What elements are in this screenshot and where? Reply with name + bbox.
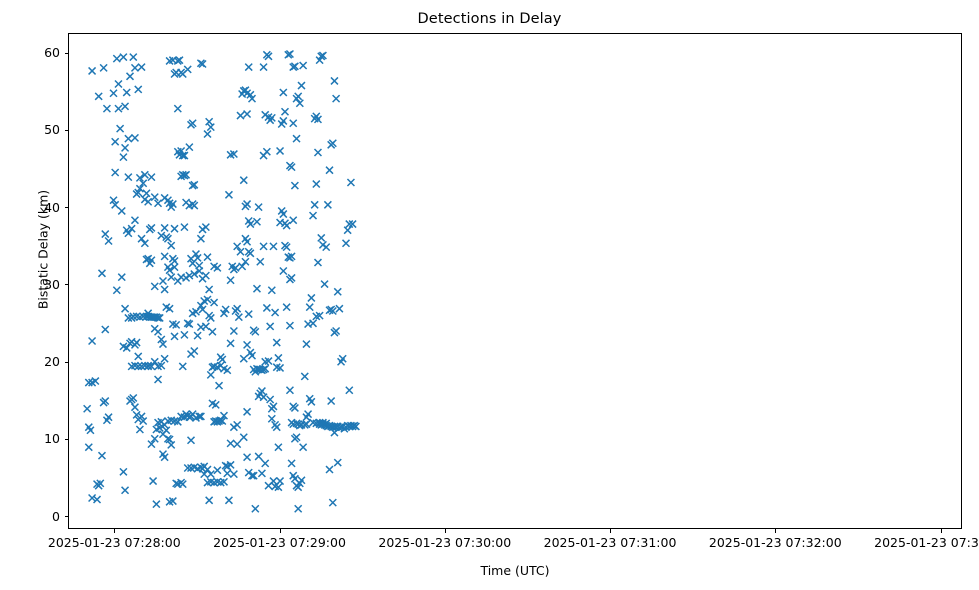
- data-point: [202, 323, 209, 330]
- data-point: [207, 124, 214, 131]
- x-axis-tick-mark: [114, 529, 115, 533]
- data-point-group: [84, 51, 360, 513]
- data-point: [135, 353, 142, 360]
- data-point: [113, 287, 120, 294]
- data-point: [313, 181, 320, 188]
- data-point: [161, 253, 168, 260]
- y-axis-label: Bistatic Delay (km): [36, 2, 51, 498]
- data-point: [85, 444, 92, 451]
- data-point: [286, 387, 293, 394]
- data-point: [138, 235, 145, 242]
- page-title: Detections in Delay: [0, 10, 979, 28]
- data-point: [240, 177, 247, 184]
- data-point: [295, 505, 302, 512]
- data-point: [260, 64, 267, 71]
- plot-axes[interactable]: [68, 33, 962, 529]
- data-point: [318, 234, 325, 241]
- data-point: [168, 274, 175, 281]
- data-point: [161, 355, 168, 362]
- data-point: [220, 412, 227, 419]
- data-point: [225, 191, 232, 198]
- data-point: [230, 328, 237, 335]
- data-point: [159, 278, 166, 285]
- data-point: [110, 90, 117, 97]
- data-point: [122, 487, 129, 494]
- data-point: [321, 281, 328, 288]
- data-point: [141, 240, 148, 247]
- data-point: [314, 149, 321, 156]
- data-point: [273, 339, 280, 346]
- data-point: [151, 194, 158, 201]
- data-point: [130, 54, 137, 61]
- data-point: [151, 283, 158, 290]
- x-axis-tick-mark: [280, 529, 281, 533]
- data-point: [288, 460, 295, 467]
- x-axis-tick-label: 2025-01-23 07:33:00: [874, 535, 979, 550]
- data-point: [181, 331, 188, 338]
- x-axis-tick-label: 2025-01-23 07:31:00: [544, 535, 677, 550]
- data-point: [334, 288, 341, 295]
- data-point: [181, 224, 188, 231]
- data-point: [127, 73, 134, 80]
- data-point: [290, 217, 297, 224]
- data-point: [291, 182, 298, 189]
- data-point: [311, 201, 318, 208]
- data-point: [227, 440, 234, 447]
- data-point: [296, 100, 303, 107]
- data-point: [225, 497, 232, 504]
- x-axis-tick-mark: [610, 529, 611, 533]
- data-point: [343, 240, 350, 247]
- data-point: [331, 77, 338, 84]
- data-point: [300, 444, 307, 451]
- data-point: [262, 460, 269, 467]
- data-point: [310, 212, 317, 219]
- data-point: [184, 66, 191, 73]
- data-point: [240, 434, 247, 441]
- data-point: [333, 95, 340, 102]
- data-point: [253, 218, 260, 225]
- data-point: [118, 207, 125, 214]
- data-point: [227, 277, 234, 284]
- data-point: [150, 478, 157, 485]
- data-point: [133, 339, 140, 346]
- x-axis-label: Time (UTC): [68, 563, 962, 578]
- data-point: [230, 471, 237, 478]
- data-point: [161, 224, 168, 231]
- data-point: [174, 105, 181, 112]
- data-point: [186, 144, 193, 151]
- data-point: [301, 373, 308, 380]
- data-point: [267, 396, 274, 403]
- data-point: [310, 320, 317, 327]
- data-point: [197, 235, 204, 242]
- data-point: [295, 93, 302, 100]
- data-point: [255, 453, 262, 460]
- data-point: [270, 243, 277, 250]
- data-point: [163, 427, 170, 434]
- data-point: [244, 111, 251, 118]
- data-point: [171, 258, 178, 265]
- data-point: [252, 505, 259, 512]
- data-point: [235, 314, 242, 321]
- data-point: [237, 112, 244, 119]
- data-point: [275, 444, 282, 451]
- data-point: [277, 478, 284, 485]
- data-point: [112, 138, 119, 145]
- data-point: [201, 471, 208, 478]
- data-point: [224, 470, 231, 477]
- data-point: [131, 64, 138, 71]
- data-point: [268, 415, 275, 422]
- data-point: [270, 403, 277, 410]
- data-point: [265, 482, 272, 489]
- data-point: [151, 358, 158, 365]
- data-point: [290, 120, 297, 127]
- data-point: [125, 135, 132, 142]
- data-point: [334, 459, 341, 466]
- data-point: [98, 452, 105, 459]
- data-point: [120, 154, 127, 161]
- data-point: [143, 190, 150, 197]
- data-point: [120, 54, 127, 61]
- data-point: [102, 326, 109, 333]
- data-point: [179, 363, 186, 370]
- data-point: [131, 404, 138, 411]
- data-point: [234, 421, 241, 428]
- data-point: [336, 305, 343, 312]
- data-point: [244, 341, 251, 348]
- data-point: [328, 398, 335, 405]
- data-point: [206, 118, 213, 125]
- data-point: [204, 466, 211, 473]
- data-point: [275, 354, 282, 361]
- data-point: [89, 338, 96, 345]
- data-point: [308, 294, 315, 301]
- data-point: [100, 64, 107, 71]
- data-point: [267, 323, 274, 330]
- data-point: [346, 387, 353, 394]
- x-axis-tick-label: 2025-01-23 07:32:00: [709, 535, 842, 550]
- data-point: [240, 355, 247, 362]
- data-point: [245, 64, 252, 71]
- data-point: [188, 437, 195, 444]
- data-point: [122, 103, 129, 110]
- data-point: [148, 174, 155, 181]
- data-point: [103, 105, 110, 112]
- data-point: [206, 286, 213, 293]
- data-point: [323, 244, 330, 251]
- data-point: [118, 274, 125, 281]
- data-point: [244, 454, 251, 461]
- x-axis-tick-label: 2025-01-23 07:29:00: [213, 535, 346, 550]
- data-point: [253, 285, 260, 292]
- data-point: [283, 304, 290, 311]
- data-point: [263, 304, 270, 311]
- data-point: [122, 144, 129, 151]
- data-point: [211, 299, 218, 306]
- data-point: [89, 67, 96, 74]
- y-axis-tick-group: 0102030405060: [0, 33, 68, 529]
- data-point: [260, 243, 267, 250]
- data-point: [344, 227, 351, 234]
- data-point: [282, 108, 289, 115]
- data-point: [204, 131, 211, 138]
- data-point: [84, 405, 91, 412]
- data-point: [214, 467, 221, 474]
- data-point: [293, 135, 300, 142]
- data-point: [280, 268, 287, 275]
- data-point: [199, 275, 206, 282]
- data-point: [268, 287, 275, 294]
- data-point: [306, 304, 313, 311]
- data-point: [204, 254, 211, 261]
- data-point: [283, 222, 290, 229]
- data-point: [326, 466, 333, 473]
- data-point: [300, 62, 307, 69]
- data-point: [242, 258, 249, 265]
- data-point: [125, 174, 132, 181]
- data-point: [262, 111, 269, 118]
- matplotlib-figure: Detections in Delay 0102030405060 Bistat…: [0, 0, 979, 590]
- data-point: [155, 328, 162, 335]
- data-point: [138, 64, 145, 71]
- data-point: [171, 225, 178, 232]
- x-axis-tick-mark: [445, 529, 446, 533]
- data-point: [115, 105, 122, 112]
- data-point: [168, 242, 175, 249]
- data-point: [245, 311, 252, 318]
- data-point: [298, 82, 305, 89]
- data-point: [123, 89, 130, 96]
- data-point: [131, 134, 138, 141]
- data-point: [329, 499, 336, 506]
- data-point: [168, 441, 175, 448]
- data-point: [286, 322, 293, 329]
- data-point: [324, 201, 331, 208]
- data-point: [155, 200, 162, 207]
- data-point: [257, 258, 264, 265]
- x-axis-tick-label: 2025-01-23 07:28:00: [48, 535, 181, 550]
- data-point: [234, 441, 241, 448]
- data-point: [105, 238, 112, 245]
- data-point: [171, 333, 178, 340]
- data-point: [207, 471, 214, 478]
- data-point: [272, 309, 279, 316]
- data-point: [239, 263, 246, 270]
- data-point: [206, 497, 213, 504]
- data-point: [131, 217, 138, 224]
- data-point: [153, 501, 160, 508]
- scatter-layer: [69, 34, 961, 528]
- data-point: [273, 424, 280, 431]
- y-axis-tick-label: 0: [52, 510, 60, 524]
- data-point: [115, 81, 122, 88]
- data-point: [244, 201, 251, 208]
- data-point: [277, 147, 284, 154]
- data-point: [207, 371, 214, 378]
- data-point: [120, 468, 127, 475]
- data-point: [191, 348, 198, 355]
- data-point: [117, 125, 124, 132]
- data-point: [112, 169, 119, 176]
- data-point: [303, 341, 310, 348]
- data-point: [98, 270, 105, 277]
- data-point: [135, 86, 142, 93]
- x-axis-tick-mark: [775, 529, 776, 533]
- data-point: [194, 332, 201, 339]
- data-point: [234, 305, 241, 312]
- x-axis-tick-label: 2025-01-23 07:30:00: [378, 535, 511, 550]
- data-point: [136, 426, 143, 433]
- data-point: [263, 148, 270, 155]
- data-point: [174, 278, 181, 285]
- data-point: [258, 470, 265, 477]
- data-point: [95, 93, 102, 100]
- data-point: [202, 224, 209, 231]
- data-point: [102, 231, 109, 238]
- data-point: [207, 314, 214, 321]
- data-point: [347, 179, 354, 186]
- data-point: [280, 89, 287, 96]
- data-point: [216, 382, 223, 389]
- data-point: [209, 328, 216, 335]
- data-point: [145, 198, 152, 205]
- data-point: [255, 204, 262, 211]
- data-point: [227, 340, 234, 347]
- data-point: [155, 376, 162, 383]
- data-point: [326, 167, 333, 174]
- data-point: [122, 305, 129, 312]
- data-point: [161, 286, 168, 293]
- data-point: [219, 356, 226, 363]
- x-axis-tick-mark: [941, 529, 942, 533]
- data-point: [113, 55, 120, 62]
- data-point: [314, 259, 321, 266]
- data-point: [244, 408, 251, 415]
- data-point: [260, 394, 267, 401]
